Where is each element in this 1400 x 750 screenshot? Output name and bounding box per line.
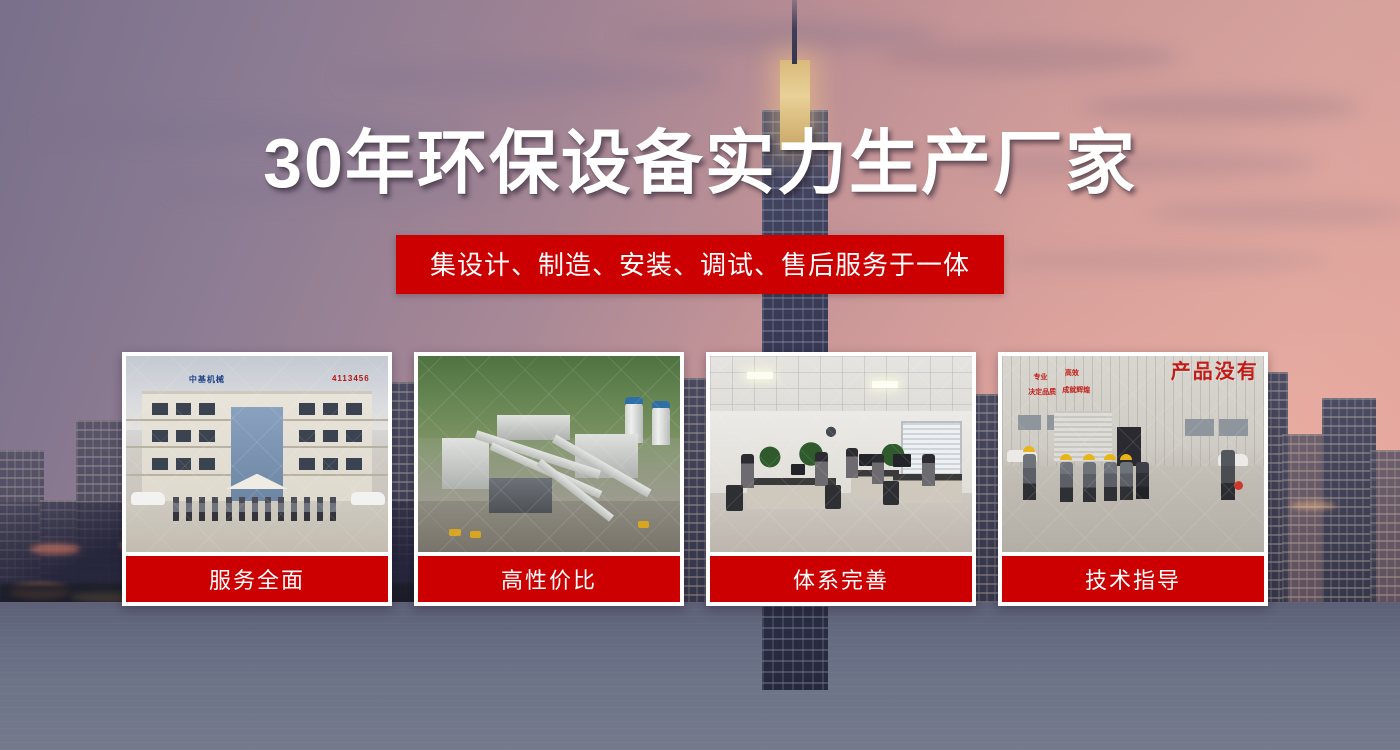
wall-slogan-text: 决定品质 (1028, 389, 1056, 398)
office-interior-photo (710, 356, 972, 552)
factory-wall-text: 产品没有 (1171, 362, 1259, 382)
promo-banner: 30年环保设备实力生产厂家 集设计、制造、安装、调试、售后服务于一体 (0, 0, 1400, 750)
shore-light (1290, 501, 1336, 510)
feature-card-list: 中基机械 4113456 服务全面 (122, 352, 1268, 606)
card-caption: 体系完善 (710, 556, 972, 602)
wall-slogan-text: 专业 (1033, 374, 1047, 383)
shore-light (30, 544, 80, 554)
feature-card[interactable]: 中基机械 4113456 服务全面 (122, 352, 392, 606)
tower-spire (792, 0, 797, 64)
building-sign-text: 中基机械 (189, 374, 225, 385)
company-office-building-photo: 中基机械 4113456 (126, 356, 388, 552)
card-caption: 服务全面 (126, 556, 388, 602)
building-phone-text: 4113456 (332, 374, 370, 383)
card-caption: 高性价比 (418, 556, 680, 602)
wall-slogan-text: 高效 (1065, 370, 1079, 379)
card-caption: 技术指导 (1002, 556, 1264, 602)
subtitle-bar-wrapper: 集设计、制造、安装、调试、售后服务于一体 (0, 235, 1400, 294)
feature-card[interactable]: 高性价比 (414, 352, 684, 606)
feature-card[interactable]: 产品没有 专业 高效 决定品质 成就辉煌 (998, 352, 1268, 606)
page-title: 30年环保设备实力生产厂家 (0, 128, 1400, 198)
workshop-workers-photo: 产品没有 专业 高效 决定品质 成就辉煌 (1002, 356, 1264, 552)
feature-card[interactable]: 体系完善 (706, 352, 976, 606)
river-water (0, 602, 1400, 750)
subtitle-banner: 集设计、制造、安装、调试、售后服务于一体 (396, 235, 1004, 294)
production-plant-aerial-photo (418, 356, 680, 552)
wall-slogan-text: 成就辉煌 (1062, 387, 1090, 396)
